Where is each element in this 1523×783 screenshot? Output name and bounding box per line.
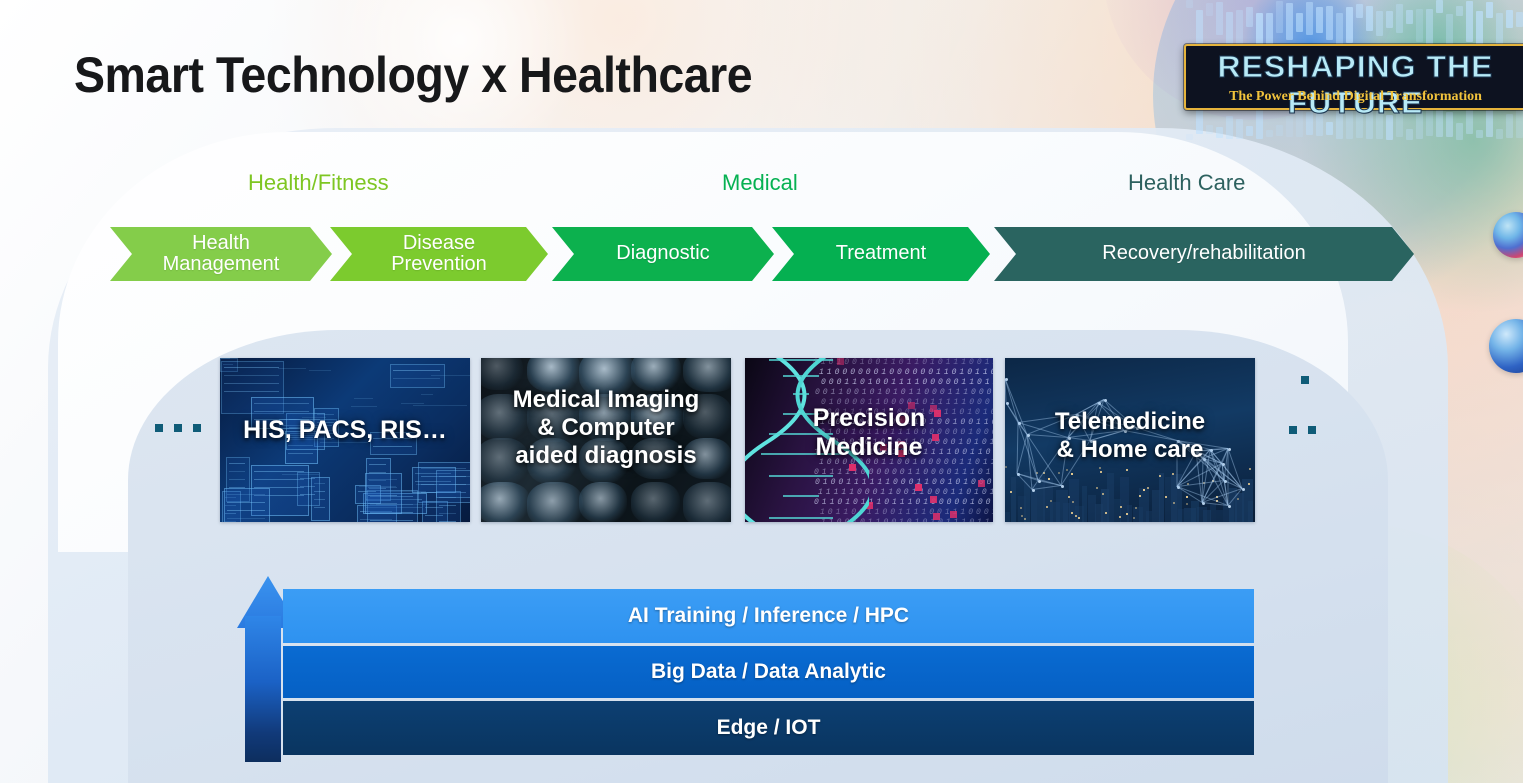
ellipsis-right-bottom-icon xyxy=(1289,426,1316,434)
caption-line2: & Home care xyxy=(1005,436,1255,464)
flow-stage-recovery-rehabilitation[interactable]: Recovery/rehabilitation xyxy=(994,227,1414,281)
caption-line1: Precision xyxy=(745,404,993,433)
ellipsis-left-icon xyxy=(155,424,201,432)
category-label-medical: Medical xyxy=(722,170,798,196)
care-continuum-flow: Health Management Disease Prevention Dia… xyxy=(110,227,1414,281)
slide-canvas: Smart Technology x Healthcare RESHAPING … xyxy=(0,0,1523,783)
flow-stage-line1: Diagnostic xyxy=(602,243,723,264)
caption-line3: aided diagnosis xyxy=(481,442,731,470)
caption-line2: & Computer xyxy=(481,414,731,442)
flow-stage-line1: Treatment xyxy=(822,243,940,264)
category-label-health-care: Health Care xyxy=(1128,170,1245,196)
application-card-caption: HIS, PACS, RIS… xyxy=(220,416,470,445)
caption-line1: HIS, PACS, RIS… xyxy=(220,416,470,445)
flow-stage-line1: Recovery/rehabilitation xyxy=(1088,243,1319,264)
flow-stage-diagnostic[interactable]: Diagnostic xyxy=(552,227,774,281)
logo-plate: RESHAPING THE FUTURE The Power Behind Di… xyxy=(1184,44,1523,110)
flow-stage-health-management[interactable]: Health Management xyxy=(110,227,332,281)
logo-subtitle: The Power Behind Digital Transformation xyxy=(1186,89,1523,105)
application-card-medical-imaging[interactable]: Medical Imaging & Computer aided diagnos… xyxy=(481,358,731,522)
flow-stage-disease-prevention[interactable]: Disease Prevention xyxy=(330,227,548,281)
flow-stage-line2: Management xyxy=(163,254,280,275)
application-card-caption: Medical Imaging & Computer aided diagnos… xyxy=(481,386,731,469)
stack-layer-bigdata[interactable]: Big Data / Data Analytic xyxy=(283,646,1254,698)
arrow-shaft xyxy=(245,616,281,762)
event-logo: RESHAPING THE FUTURE The Power Behind Di… xyxy=(1180,0,1523,140)
flow-stage-line2: Prevention xyxy=(391,254,487,275)
flow-stage-treatment[interactable]: Treatment xyxy=(772,227,990,281)
flow-stage-line1: Health xyxy=(163,233,280,254)
logo-title: RESHAPING THE FUTURE xyxy=(1181,49,1523,121)
application-card-caption: Precision Medicine xyxy=(745,404,993,462)
application-card-his-pacs-ris[interactable]: HIS, PACS, RIS… xyxy=(220,358,470,522)
caption-line2: Medicine xyxy=(745,433,993,462)
stack-layer-ai[interactable]: AI Training / Inference / HPC xyxy=(283,589,1254,643)
application-card-telemedicine[interactable]: Telemedicine & Home care xyxy=(1005,358,1255,522)
decorative-sphere-multicolor xyxy=(1493,212,1523,258)
caption-line1: Medical Imaging xyxy=(481,386,731,414)
application-card-precision-medicine[interactable]: 0101001001101101011100110100001100000010… xyxy=(745,358,993,522)
flow-stage-line1: Disease xyxy=(391,233,487,254)
decorative-sphere-blue xyxy=(1489,319,1523,373)
ellipsis-right-top-icon xyxy=(1301,376,1309,384)
application-card-caption: Telemedicine & Home care xyxy=(1005,408,1255,464)
page-title: Smart Technology x Healthcare xyxy=(74,46,752,104)
stack-layer-edge[interactable]: Edge / IOT xyxy=(283,701,1254,755)
category-label-health-fitness: Health/Fitness xyxy=(248,170,389,196)
caption-line1: Telemedicine xyxy=(1005,408,1255,436)
